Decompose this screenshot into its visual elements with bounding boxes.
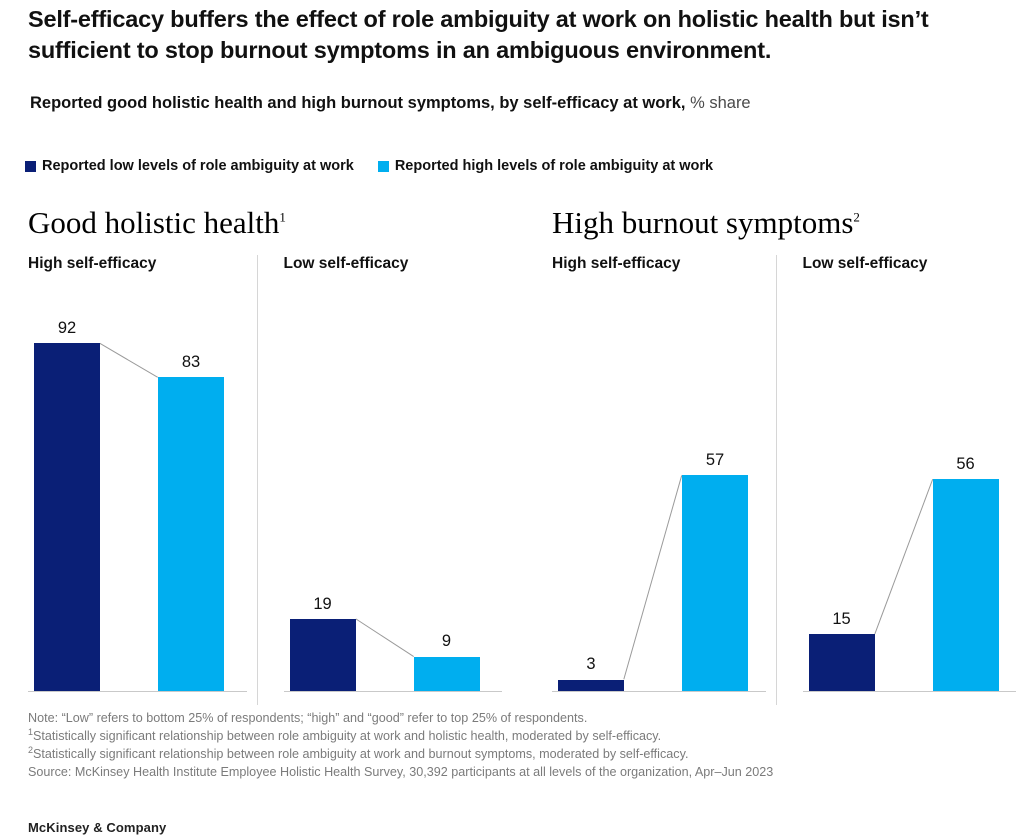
bar-value-label: 57	[706, 452, 724, 469]
bar-low-ambiguity[interactable]: 3	[558, 680, 624, 691]
panel-label-low-self-efficacy: Low self-efficacy	[803, 255, 928, 273]
bar-rect	[158, 377, 224, 691]
legend-item-low-ambiguity[interactable]: Reported low levels of role ambiguity at…	[25, 158, 354, 174]
footnote-1: 1Statistically significant relationship …	[28, 728, 988, 746]
bar-rect	[682, 475, 748, 691]
legend-swatch-low-ambiguity	[25, 161, 36, 172]
group-title-high-burnout-symptoms: High burnout symptoms2	[552, 200, 1022, 240]
chart-legend: Reported low levels of role ambiguity at…	[25, 158, 713, 174]
bar-rect	[290, 619, 356, 691]
footnote-2: 2Statistically significant relationship …	[28, 746, 988, 764]
plot-area: 19 9	[284, 295, 509, 700]
brand-mckinsey: McKinsey & Company	[28, 820, 166, 835]
bar-rect	[933, 479, 999, 691]
bar-high-ambiguity[interactable]: 9	[414, 657, 480, 691]
bar-value-label: 19	[313, 596, 331, 613]
subtitle-unit: % share	[686, 94, 751, 112]
bar-value-label: 3	[586, 656, 595, 673]
legend-label-high-ambiguity: Reported high levels of role ambiguity a…	[395, 158, 713, 174]
chart-group-high-burnout-symptoms: High burnout symptoms2 High self-efficac…	[552, 200, 1022, 705]
footnote-1-text: Statistically significant relationship b…	[33, 729, 661, 743]
bar-value-label: 56	[956, 456, 974, 473]
bar-low-ambiguity[interactable]: 92	[34, 343, 100, 691]
bar-value-label: 9	[442, 633, 451, 650]
bar-high-ambiguity[interactable]: 83	[158, 377, 224, 691]
bar-rect	[809, 634, 875, 691]
bar-value-label: 15	[832, 611, 850, 628]
legend-item-high-ambiguity[interactable]: Reported high levels of role ambiguity a…	[378, 158, 713, 174]
page-headline: Self-efficacy buffers the effect of role…	[28, 4, 1008, 67]
footnote-source: Source: McKinsey Health Institute Employ…	[28, 764, 988, 782]
group-title-footnote-marker: 1	[279, 210, 286, 225]
panel-label-low-self-efficacy: Low self-efficacy	[284, 255, 409, 273]
panel-low-self-efficacy-burnout: Low self-efficacy 15 56	[776, 255, 1023, 705]
footnote-2-text: Statistically significant relationship b…	[33, 747, 688, 761]
panel-label-high-self-efficacy: High self-efficacy	[552, 255, 680, 273]
panel-low-self-efficacy-health: Low self-efficacy 19 9	[257, 255, 509, 705]
panels-row-good-holistic-health: High self-efficacy 92 83 Low self-effica…	[28, 255, 508, 705]
panels-row-high-burnout-symptoms: High self-efficacy 3 57 Low self-efficac…	[552, 255, 1022, 705]
legend-swatch-high-ambiguity	[378, 161, 389, 172]
axis-baseline	[803, 691, 1017, 692]
footnote-note: Note: “Low” refers to bottom 25% of resp…	[28, 710, 988, 728]
bar-rect	[414, 657, 480, 691]
bar-rect	[34, 343, 100, 691]
axis-baseline	[28, 691, 247, 692]
bar-value-label: 92	[58, 320, 76, 337]
bar-low-ambiguity[interactable]: 19	[290, 619, 356, 691]
bar-high-ambiguity[interactable]: 56	[933, 479, 999, 691]
subtitle-main: Reported good holistic health and high b…	[30, 94, 686, 112]
bar-high-ambiguity[interactable]: 57	[682, 475, 748, 691]
chart-group-good-holistic-health: Good holistic health1 High self-efficacy…	[28, 200, 508, 705]
axis-baseline	[552, 691, 766, 692]
panel-high-self-efficacy-health: High self-efficacy 92 83	[28, 255, 253, 705]
plot-area: 15 56	[803, 295, 1023, 700]
plot-area: 3 57	[552, 295, 772, 700]
group-title-text: High burnout symptoms	[552, 205, 853, 240]
bar-rect	[558, 680, 624, 691]
legend-label-low-ambiguity: Reported low levels of role ambiguity at…	[42, 158, 354, 174]
group-title-good-holistic-health: Good holistic health1	[28, 200, 508, 240]
panel-label-high-self-efficacy: High self-efficacy	[28, 255, 156, 273]
bar-low-ambiguity[interactable]: 15	[809, 634, 875, 691]
group-title-footnote-marker: 2	[853, 210, 860, 225]
page-subtitle: Reported good holistic health and high b…	[30, 94, 751, 114]
panel-high-self-efficacy-burnout: High self-efficacy 3 57	[552, 255, 772, 705]
plot-area: 92 83	[28, 295, 253, 700]
axis-baseline	[284, 691, 503, 692]
bar-value-label: 83	[182, 354, 200, 371]
footnotes-block: Note: “Low” refers to bottom 25% of resp…	[28, 710, 988, 782]
group-title-text: Good holistic health	[28, 205, 279, 240]
